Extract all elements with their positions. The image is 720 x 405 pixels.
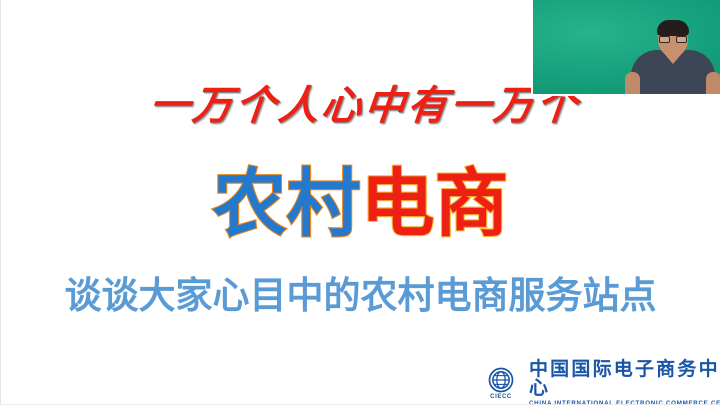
title-segment-red: 电商 (361, 161, 509, 247)
logo-wordmark: 中国国际电子商务中心 CHINA INTERNATIONAL ELECTRONI… (529, 360, 720, 405)
title-segment-blue: 农村 (213, 161, 361, 247)
presenter-arm-right (706, 72, 720, 94)
logo-mark-label: CIECC (482, 394, 520, 400)
presenter-figure (625, 20, 720, 94)
globe-icon: CIECC (482, 367, 520, 400)
logo-chinese-name: 中国国际电子商务中心 (529, 360, 720, 398)
presentation-slide: 一万个人心中有一万个 农村电商 谈谈大家心目中的农村电商服务站点 (0, 0, 720, 405)
presenter-video-panel[interactable] (531, 0, 720, 96)
ciecc-logo: CIECC 中国国际电子商务中心 CHINA INTERNATIONAL ELE… (482, 360, 720, 405)
glasses-icon (659, 36, 687, 43)
logo-english-name: CHINA INTERNATIONAL ELECTRONIC COMMERCE … (529, 401, 720, 405)
presenter-hair (657, 20, 689, 36)
page-title: 农村电商 (1, 166, 720, 244)
presenter-arm-left (625, 72, 640, 94)
subtitle-text: 谈谈大家心目中的农村电商服务站点 (1, 276, 720, 317)
